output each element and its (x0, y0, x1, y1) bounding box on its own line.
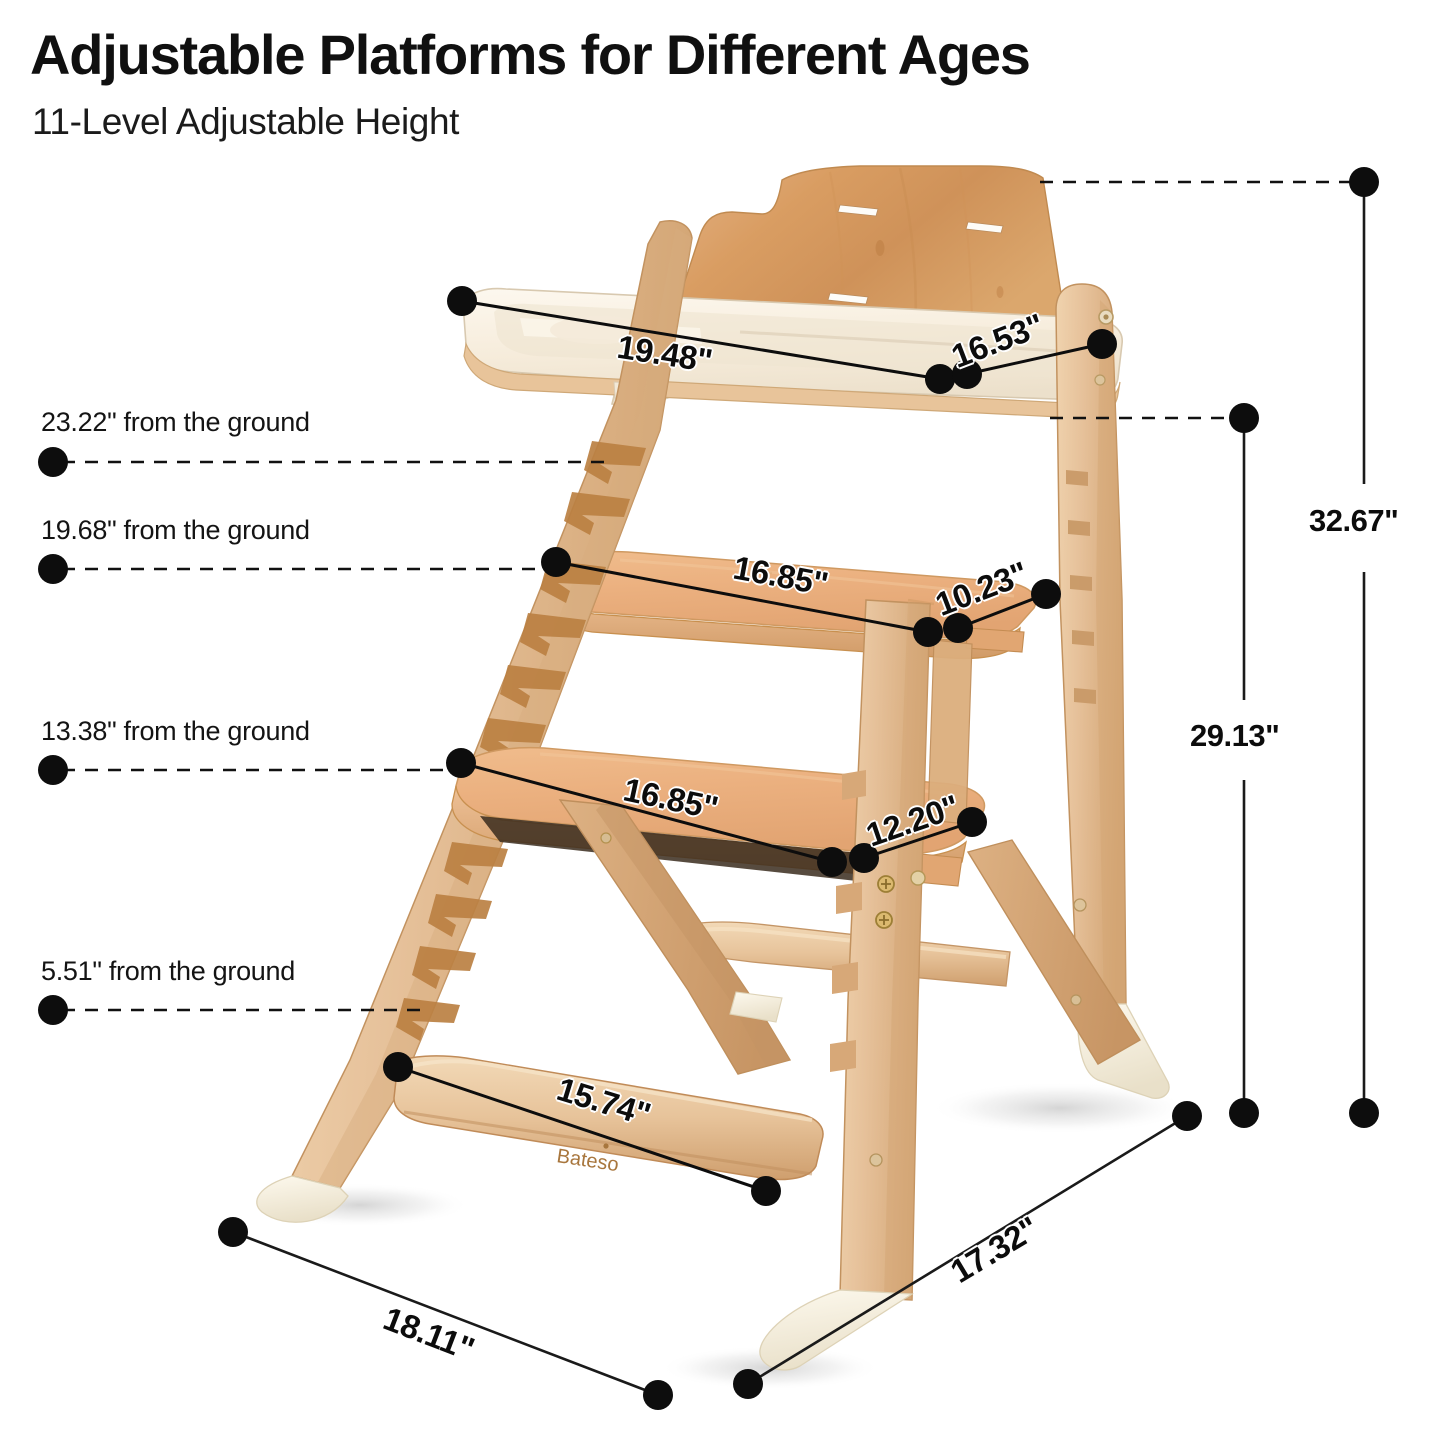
dim-total-height: 32.67" (1309, 503, 1398, 539)
dim-back-height: 29.13" (1190, 718, 1279, 754)
measure-base-width (218, 1217, 673, 1410)
product-dimension-diagram: { "header": { "title": "Adjustable Platf… (0, 0, 1445, 1445)
ground-label-2: 19.68" from the ground (41, 515, 310, 546)
ground-label-4: 5.51" from the ground (41, 956, 295, 987)
measure-total-height (1349, 167, 1379, 1128)
ground-label-1: 23.22" from the ground (41, 407, 310, 438)
right-front-leg (760, 600, 930, 1370)
measure-back-height (1229, 403, 1259, 1128)
ground-label-3: 13.38" from the ground (41, 716, 310, 747)
